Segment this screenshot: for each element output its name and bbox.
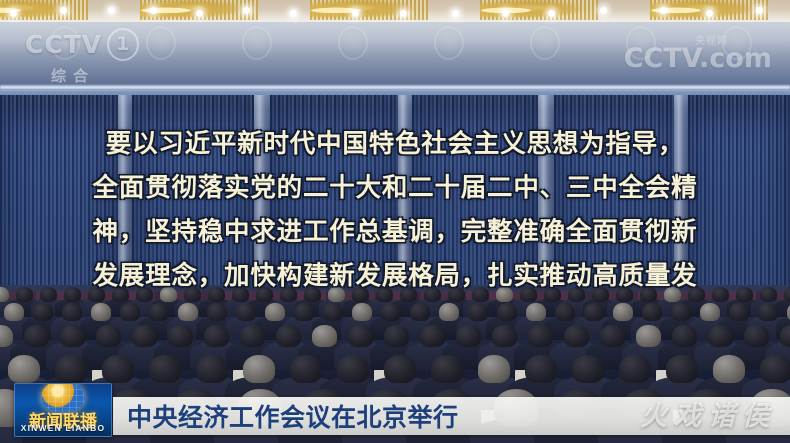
audience-person-head [337, 355, 369, 383]
program-logo-en: XINWEN LIANBO [15, 423, 111, 433]
lower-third: 新闻联播 XINWEN LIANBO 中央经济工作会议在北京举行 [0, 381, 790, 443]
ceiling-light [660, 7, 667, 14]
audience-person-head [708, 325, 733, 347]
audience-person-head [0, 287, 9, 302]
broadcast-screen: CCTV 1 综合 央视网 CCTV.com 要以习近平新时代中国特色社会主义思… [0, 0, 790, 443]
audience-person-head [572, 355, 604, 383]
program-logo: 新闻联播 XINWEN LIANBO [14, 383, 112, 437]
audience-person-head [712, 287, 729, 302]
audience-person-head [232, 287, 249, 302]
wall-emblem [338, 26, 368, 60]
audience-person-head [280, 287, 297, 302]
audience-person-head [348, 325, 373, 347]
audience-person-head [136, 287, 153, 302]
audience-person-head [666, 355, 698, 383]
audience-person-head [40, 287, 57, 302]
audience-person-head [149, 303, 169, 321]
ceiling-light [706, 10, 713, 17]
audience-person-head [256, 287, 273, 302]
headline-text: 中央经济工作会议在北京举行 [127, 398, 459, 434]
ceiling-light [400, 10, 407, 17]
audience-person-head [410, 303, 430, 321]
wall-pillar [674, 95, 688, 310]
audience-person-head [196, 355, 228, 383]
ceiling-light [756, 7, 763, 14]
stage-curtain [554, 95, 674, 310]
audience-person-head [780, 325, 790, 347]
audience-person-head [640, 287, 657, 302]
audience-person-head [112, 287, 129, 302]
audience-person-head [328, 287, 345, 302]
audience-person-head [564, 325, 589, 347]
audience-person-head [744, 325, 769, 347]
audience-person-head [376, 287, 393, 302]
audience-person-head [497, 303, 517, 321]
wall-pillar [118, 95, 132, 310]
channel-logo-row: CCTV 1 [25, 28, 150, 61]
ceiling-light [452, 10, 459, 17]
audience-person-head [323, 303, 343, 321]
audience-person-head [439, 303, 459, 321]
audience-person-head [178, 303, 198, 321]
wall-emblem [530, 26, 560, 60]
audience-person-head [312, 325, 337, 347]
audience-person-head [520, 287, 537, 302]
ceiling-light [60, 7, 67, 14]
ceiling-light [150, 7, 157, 14]
channel-sub-label: 综合 [51, 65, 150, 86]
ceiling-light [502, 10, 509, 17]
audience-person-head [592, 287, 609, 302]
audience-person-head [132, 325, 157, 347]
chandelier-icon [480, 0, 598, 20]
audience-person-head [240, 325, 265, 347]
audience-person-head [207, 303, 227, 321]
audience-person-head [184, 287, 201, 302]
audience-person-head [8, 355, 40, 383]
ceiling-light [196, 10, 203, 17]
audience-person-head [526, 303, 546, 321]
audience-person-head [4, 303, 24, 321]
audience-person-head [424, 287, 441, 302]
audience-person-head [758, 303, 778, 321]
audience-person-head [236, 303, 256, 321]
chandelier-icon [310, 0, 428, 20]
headline-bar: 中央经济工作会议在北京举行 [113, 397, 790, 435]
audience-person-head [64, 287, 81, 302]
audience-person-head [276, 325, 301, 347]
audience-person-head [671, 303, 691, 321]
audience-person-head [555, 303, 575, 321]
audience-person-head [55, 355, 87, 383]
audience-person-head [528, 325, 553, 347]
audience-person-head [688, 287, 705, 302]
audience-person-head [160, 287, 177, 302]
wall-emblem [434, 26, 464, 60]
wall-pillar [254, 95, 270, 310]
audience-person-head [16, 287, 33, 302]
ceiling-light [243, 7, 250, 14]
audience-person-head [352, 287, 369, 302]
audience-person-head [448, 287, 465, 302]
stage-curtain [688, 95, 790, 310]
wall-pillar [538, 95, 554, 310]
audience-person-head [290, 355, 322, 383]
audience-person-head [431, 355, 463, 383]
audience-person-head [456, 325, 481, 347]
audience-person-head [700, 303, 720, 321]
audience-person-head [760, 287, 777, 302]
audience-person-head [713, 355, 745, 383]
audience-person-head [102, 355, 134, 383]
stage-curtain [132, 95, 254, 310]
audience-person-head [568, 287, 585, 302]
audience-person-head [496, 287, 513, 302]
audience-person-head [736, 287, 753, 302]
audience-person-head [384, 325, 409, 347]
wall-emblem [146, 26, 176, 60]
audience-person-head [619, 355, 651, 383]
audience-person-head [265, 303, 285, 321]
audience-person-head [729, 303, 749, 321]
audience-person-head [204, 325, 229, 347]
audience-person-head [492, 325, 517, 347]
ceiling-light [548, 10, 555, 17]
audience-person-head [120, 303, 140, 321]
audience-person-head [672, 325, 697, 347]
audience-person-head [760, 355, 790, 383]
stage-curtain [0, 95, 118, 310]
ceiling-light [290, 10, 297, 17]
audience-person-head [149, 355, 181, 383]
audience-person-head [352, 303, 372, 321]
audience-person-head [168, 325, 193, 347]
wall-pillar [398, 95, 412, 310]
audience-person-head [384, 355, 416, 383]
stage-curtain [270, 95, 398, 310]
audience-person-head [381, 303, 401, 321]
audience-person-head [636, 325, 661, 347]
channel-number: 1 [107, 28, 139, 61]
audience-person-head [24, 325, 49, 347]
audience-person-head [400, 287, 417, 302]
audience-person-head [544, 287, 561, 302]
audience-person-head [616, 287, 633, 302]
channel-logo: CCTV 1 综合 [25, 28, 150, 80]
audience-person-head [420, 325, 445, 347]
audience-person-head [784, 287, 790, 302]
audience-person-head [642, 303, 662, 321]
channel-name: CCTV [25, 30, 102, 59]
audience-person-head [525, 355, 557, 383]
audience-person-head [468, 303, 488, 321]
site-watermark: 央视网 CCTV.com [624, 32, 772, 74]
audience-person-head [62, 303, 82, 321]
audience-person-head [294, 303, 314, 321]
audience-person-head [472, 287, 489, 302]
wall-emblem [242, 26, 272, 60]
audience-person-head [60, 325, 85, 347]
audience-person-head [96, 325, 121, 347]
audience-person-head [664, 287, 681, 302]
audience-person-head [208, 287, 225, 302]
ceiling-light [108, 7, 115, 14]
ceiling-light [600, 7, 607, 14]
audience-person-head [88, 287, 105, 302]
site-watermark-en: CCTV.com [624, 43, 772, 74]
ceiling-light [10, 10, 17, 17]
audience-person-head [91, 303, 111, 321]
audience-person-head [613, 303, 633, 321]
audience-person-head [33, 303, 53, 321]
stage-curtain [412, 95, 538, 310]
audience-person-head [478, 355, 510, 383]
audience-person-head [243, 355, 275, 383]
audience-person-head [584, 303, 604, 321]
audience-person-head [600, 325, 625, 347]
ceiling-light [352, 10, 359, 17]
audience-person-head [304, 287, 321, 302]
